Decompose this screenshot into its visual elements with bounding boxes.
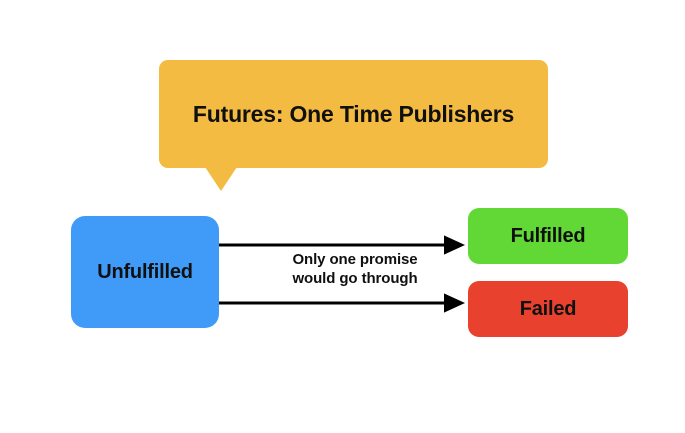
node-failed-label: Failed (520, 298, 577, 321)
edge-label: Only one promise would go through (255, 250, 455, 288)
node-fulfilled[interactable]: Fulfilled (468, 208, 628, 264)
callout-tail (205, 167, 237, 191)
node-failed[interactable]: Failed (468, 281, 628, 337)
page-title: Futures: One Time Publishers (193, 101, 514, 128)
edge-label-line-1: Only one promise (255, 250, 455, 269)
node-unfulfilled[interactable]: Unfulfilled (71, 216, 219, 328)
node-fulfilled-label: Fulfilled (511, 225, 586, 248)
edge-label-line-2: would go through (255, 269, 455, 288)
diagram-canvas: Futures: One Time Publishers Unfulfilled… (0, 0, 685, 433)
node-unfulfilled-label: Unfulfilled (97, 261, 193, 284)
title-callout: Futures: One Time Publishers (159, 60, 548, 168)
